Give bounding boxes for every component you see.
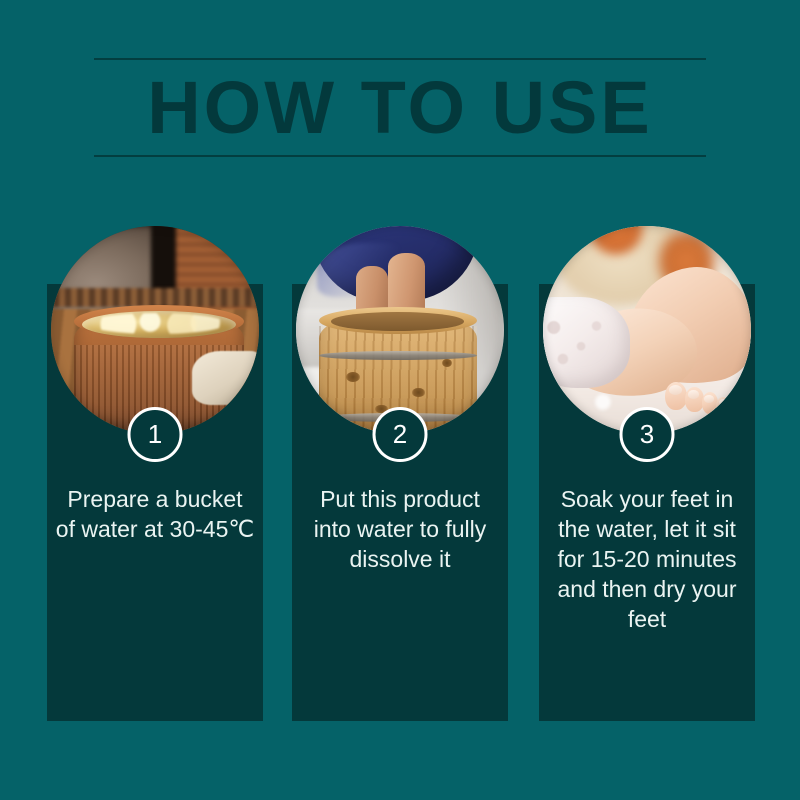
feet-in-wooden-foot-bucket-photo	[296, 226, 504, 434]
scene-1	[51, 226, 259, 434]
scene3-toe	[729, 401, 741, 417]
drying-feet-with-towel-photo	[543, 226, 751, 434]
scene3-toenail	[669, 385, 682, 395]
scene-3	[543, 226, 751, 434]
scene3-toenail	[719, 399, 728, 406]
scene2-bucket-interior	[331, 312, 464, 331]
scene3-toenail	[688, 390, 700, 399]
infographic-page: HOW TO USE 1 Prepare a bucket of wa	[0, 0, 800, 800]
step-card-3: 3 Soak your feet in the water, let it si…	[539, 284, 755, 721]
step-caption-3: Soak your feet in the water, let it sit …	[547, 484, 747, 634]
page-title: HOW TO USE	[94, 60, 706, 155]
scene1-water-foam	[88, 313, 225, 334]
scene2-metal-hoop-upper	[319, 351, 477, 360]
scene3-toenail	[704, 395, 714, 403]
header: HOW TO USE	[94, 58, 706, 158]
scene3-toes-group	[664, 374, 747, 420]
wooden-tub-with-hot-water-photo	[51, 226, 259, 434]
step-card-2: 2 Put this product into water to fully d…	[292, 284, 508, 721]
scene1-towel	[192, 351, 259, 405]
step-number-badge-1: 1	[128, 407, 183, 462]
scene3-lace-texture	[543, 305, 622, 380]
step-card-1: 1 Prepare a bucket of water at 30-45℃	[47, 284, 263, 721]
scene-2	[296, 226, 504, 434]
step-number-badge-3: 3	[620, 407, 675, 462]
title-divider-bottom	[94, 155, 706, 157]
step-caption-2: Put this product into water to fully dis…	[300, 484, 500, 574]
step-caption-1: Prepare a bucket of water at 30-45℃	[55, 484, 255, 544]
scene2-wood-knot	[412, 388, 424, 396]
step-number-badge-2: 2	[373, 407, 428, 462]
